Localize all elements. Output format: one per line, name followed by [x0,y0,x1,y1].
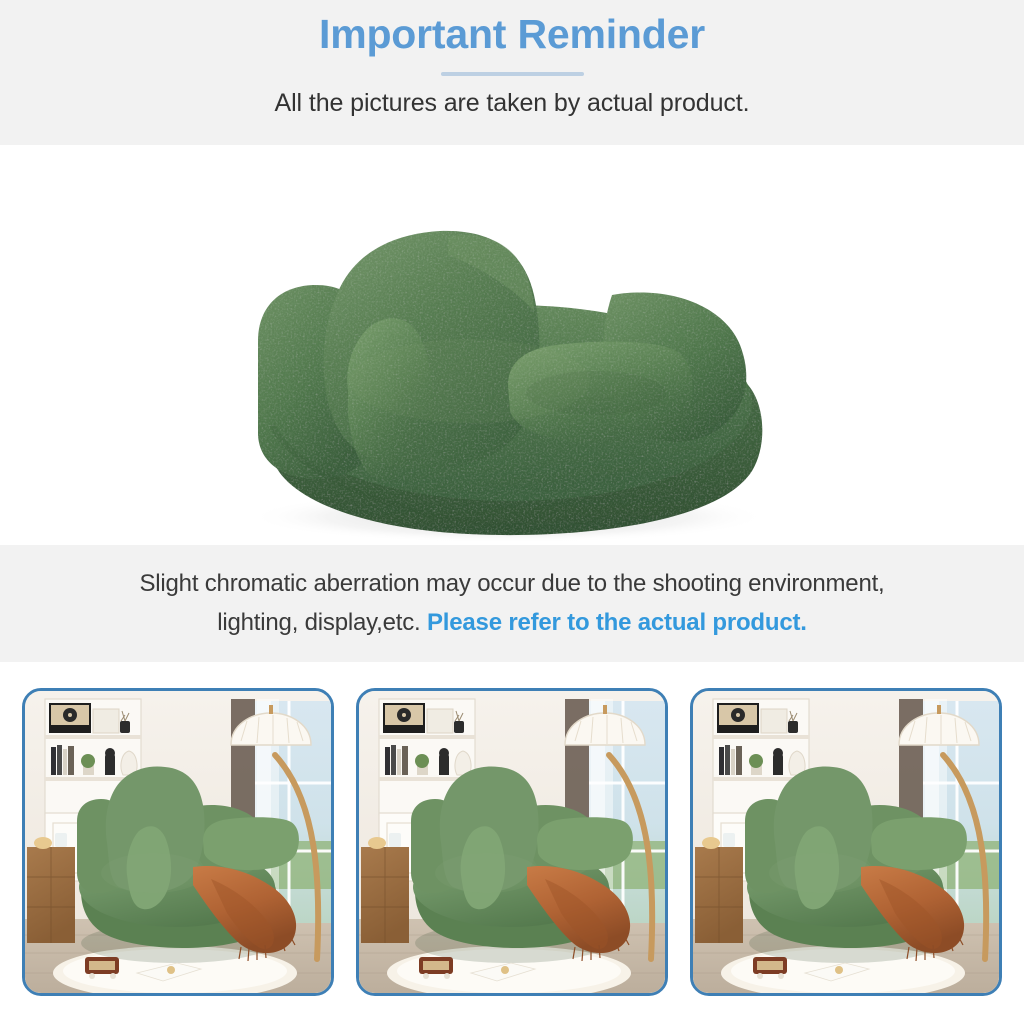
thumbnail-1[interactable] [22,688,334,996]
caption-band: Slight chromatic aberration may occur du… [0,545,1024,662]
thumbnail-strip [0,662,1024,1024]
lifestyle-scene-illustration [359,691,665,993]
thumbnail-2[interactable] [356,688,668,996]
product-reminder-page: Important Reminder All the pictures are … [0,0,1024,1024]
caption-accent-text: Please refer to the actual product. [427,609,807,636]
swivel-chair-illustration [0,145,1024,545]
lifestyle-scene-illustration [693,691,999,993]
title-divider [441,72,584,76]
caption-line-2-plain: lighting, display,etc. [217,609,427,636]
caption-line-2: lighting, display,etc. Please refer to t… [217,604,807,643]
header-band: Important Reminder All the pictures are … [0,0,1024,145]
page-title: Important Reminder [319,11,705,58]
lifestyle-scene-illustration [25,691,331,993]
caption-line-1: Slight chromatic aberration may occur du… [139,565,884,604]
thumbnail-3[interactable] [690,688,1002,996]
header-subtitle: All the pictures are taken by actual pro… [275,89,750,118]
hero-product-image [0,145,1024,545]
